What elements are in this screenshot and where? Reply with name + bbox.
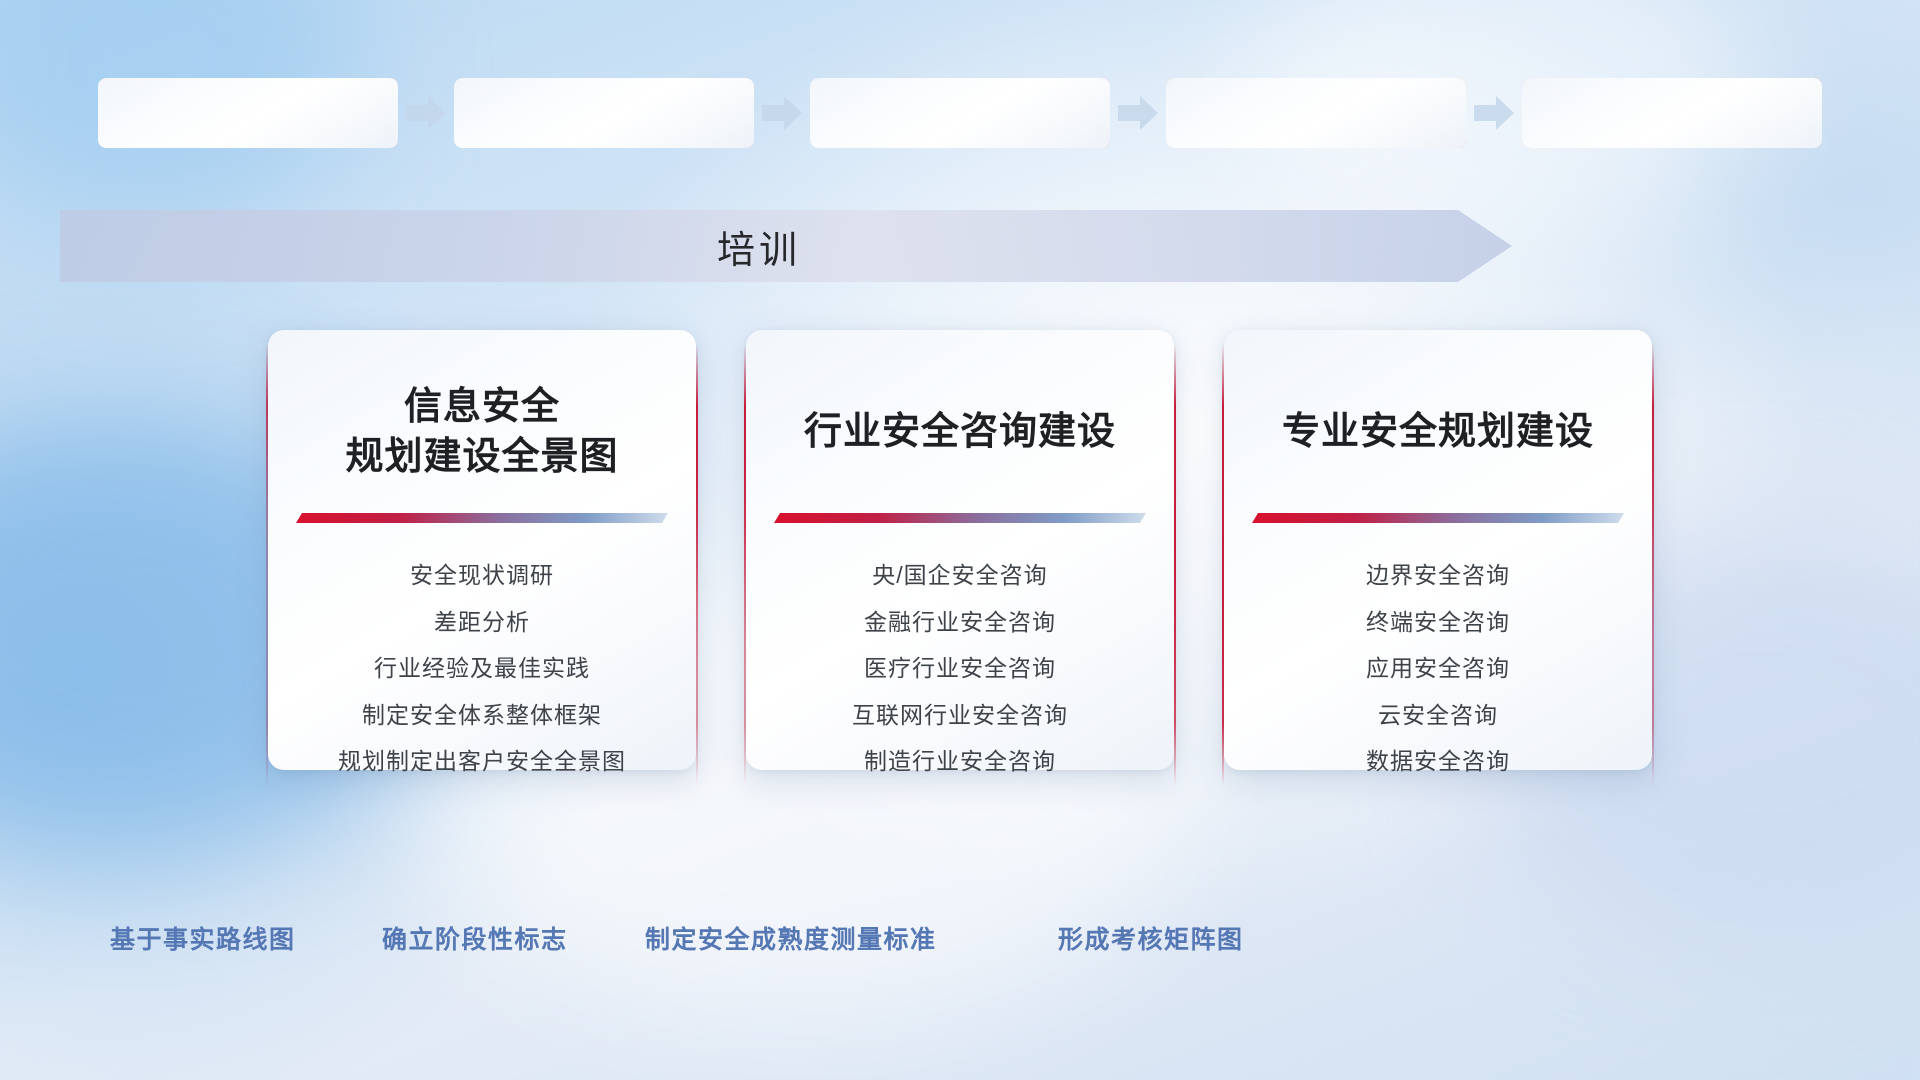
card-title: 专业安全规划建设 bbox=[1282, 382, 1594, 482]
process-step-row: 了解现状 找出风险 做出规划 项目落地 bbox=[0, 78, 1920, 148]
list-item: 终端安全咨询 bbox=[1366, 605, 1510, 640]
card-item-list: 边界安全咨询 终端安全咨询 应用安全咨询 云安全咨询 数据安全咨询 bbox=[1250, 558, 1626, 779]
card-1[interactable]: 行业安全咨询建设 央/国 bbox=[746, 330, 1174, 770]
card-title: 行业安全咨询建设 bbox=[804, 382, 1116, 482]
footer-label-2: 制定安全成熟度测量标准 bbox=[645, 920, 937, 956]
list-item: 云安全咨询 bbox=[1378, 698, 1498, 733]
arrow-right-icon bbox=[1466, 93, 1522, 133]
step-fill bbox=[1522, 78, 1822, 148]
card-0[interactable]: 信息安全 规划建设全景图 bbox=[268, 330, 696, 770]
list-item: 制造行业安全咨询 bbox=[864, 744, 1056, 779]
card-2[interactable]: 专业安全规划建设 边界安 bbox=[1224, 330, 1652, 770]
list-item: 数据安全咨询 bbox=[1366, 744, 1510, 779]
process-step-2[interactable]: 做出规划 bbox=[810, 78, 1110, 148]
footer-label-3: 形成考核矩阵图 bbox=[1058, 920, 1244, 956]
list-item: 制定安全体系整体框架 bbox=[362, 698, 602, 733]
process-step-1[interactable]: 找出风险 bbox=[454, 78, 754, 148]
card-accent-bar bbox=[774, 512, 1146, 524]
list-item: 边界安全咨询 bbox=[1366, 558, 1510, 593]
footer-label-row: 基于事实路线图 确立阶段性标志 制定安全成熟度测量标准 形成考核矩阵图 bbox=[0, 920, 1920, 960]
process-step-0[interactable]: 了解现状 bbox=[98, 78, 398, 148]
training-banner: 培训 bbox=[60, 210, 1512, 282]
list-item: 行业经验及最佳实践 bbox=[374, 651, 590, 686]
list-item: 央/国企安全咨询 bbox=[872, 558, 1047, 593]
card-title-line: 信息安全 bbox=[345, 382, 618, 432]
card-title: 信息安全 规划建设全景图 bbox=[345, 382, 618, 482]
arrow-right-icon bbox=[398, 93, 454, 133]
step-fill bbox=[454, 78, 754, 148]
step-fill bbox=[98, 78, 398, 148]
list-item: 互联网行业安全咨询 bbox=[852, 698, 1068, 733]
list-item: 金融行业安全咨询 bbox=[864, 605, 1056, 640]
footer-label-0: 基于事实路线图 bbox=[110, 920, 296, 956]
card-item-list: 央/国企安全咨询 金融行业安全咨询 医疗行业安全咨询 互联网行业安全咨询 制造行… bbox=[772, 558, 1148, 779]
step-fill bbox=[1166, 78, 1466, 148]
footer-label-1: 确立阶段性标志 bbox=[382, 920, 568, 956]
process-step-4[interactable]: 持续实施 bbox=[1522, 78, 1822, 148]
card-title-line: 规划建设全景图 bbox=[345, 432, 618, 482]
card-accent-bar bbox=[1252, 512, 1624, 524]
list-item: 差距分析 bbox=[434, 605, 530, 640]
process-step-3[interactable]: 项目落地 bbox=[1166, 78, 1466, 148]
list-item: 安全现状调研 bbox=[410, 558, 554, 593]
card-item-list: 安全现状调研 差距分析 行业经验及最佳实践 制定安全体系整体框架 规划制定出客户… bbox=[294, 558, 670, 779]
arrow-right-icon bbox=[1110, 93, 1166, 133]
card-row: 信息安全 规划建设全景图 bbox=[0, 330, 1920, 770]
card-accent-bar bbox=[296, 512, 668, 524]
list-item: 医疗行业安全咨询 bbox=[864, 651, 1056, 686]
slide-canvas: 了解现状 找出风险 做出规划 项目落地 bbox=[0, 0, 1920, 1080]
list-item: 规划制定出客户安全全景图 bbox=[338, 744, 626, 779]
list-item: 应用安全咨询 bbox=[1366, 651, 1510, 686]
banner-label: 培训 bbox=[60, 210, 1512, 282]
arrow-right-icon bbox=[754, 93, 810, 133]
step-fill bbox=[810, 78, 1110, 148]
card-title-line: 专业安全规划建设 bbox=[1282, 407, 1594, 457]
card-title-line: 行业安全咨询建设 bbox=[804, 407, 1116, 457]
